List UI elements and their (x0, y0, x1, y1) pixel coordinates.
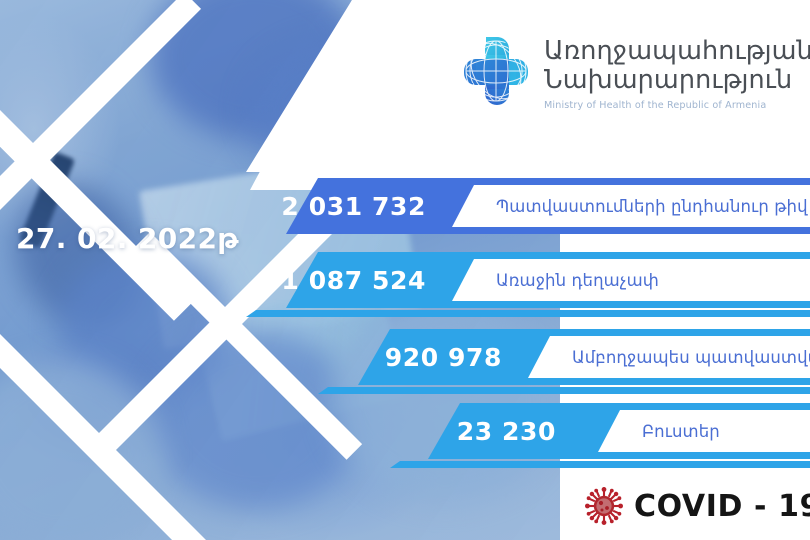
stat-label-container: Բուստեր (598, 410, 810, 452)
coronavirus-icon (585, 487, 623, 525)
stat-row-first-dose: 1 087 524 Առաջին դեղաչափ (0, 252, 810, 308)
vaccination-statistics-poster: Առողջապահության Նախարարություն Ministry … (0, 0, 810, 540)
stat-value: 2 031 732 (281, 192, 426, 221)
stat-value-container: 23 230 (400, 403, 590, 459)
stat-rail (246, 310, 810, 317)
stat-label-container: Առաջին դեղաչափ (452, 259, 810, 301)
stat-rail (390, 461, 810, 468)
covid-footer: COVID - 19 (585, 487, 810, 525)
stat-row-booster: 23 230 Բուստեր (0, 403, 810, 459)
stat-value: 1 087 524 (281, 266, 426, 295)
stat-value-container: 920 978 (346, 329, 536, 385)
stat-label: Պատվաստումների ընդհանուր թիվ (496, 197, 808, 216)
stat-value-container: 2 031 732 (270, 178, 460, 234)
stat-value: 920 978 (385, 343, 502, 372)
stat-label: Առաջին դեղաչափ (496, 271, 659, 290)
stat-label-container: Պատվաստումների ընդհանուր թիվ (452, 185, 810, 227)
stat-value: 23 230 (457, 417, 556, 446)
stat-label: Ամբողջապես պատվաստված (572, 348, 810, 367)
stat-row-fully-vaccinated: 920 978 Ամբողջապես պատվաստված (0, 329, 810, 385)
stat-label: Բուստեր (642, 422, 720, 441)
stat-row-total-vaccinations: 2 031 732 Պատվաստումների ընդհանուր թիվ (0, 178, 810, 234)
stat-value-container: 1 087 524 (270, 252, 460, 308)
statistics-bars: 2 031 732 Պատվաստումների ընդհանուր թիվ 1… (0, 0, 810, 540)
stat-label-container: Ամբողջապես պատվաստված (528, 336, 810, 378)
covid-label: COVID - 19 (634, 489, 810, 524)
stat-rail (318, 387, 810, 394)
